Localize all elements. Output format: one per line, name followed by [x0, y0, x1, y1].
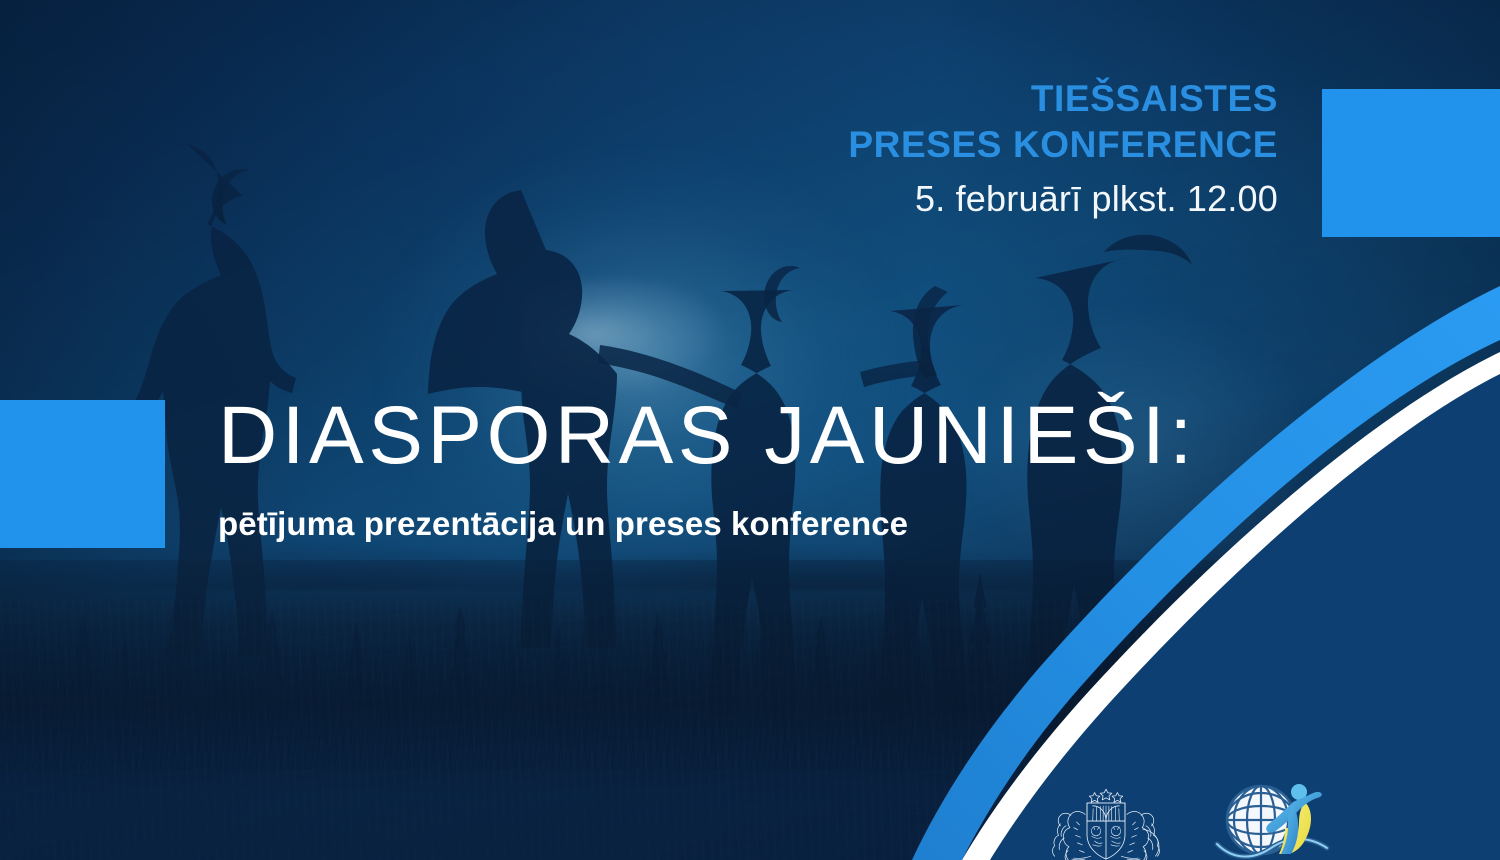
event-poster: TIEŠSAISTES PRESES KONFERENCE 5. februār…: [0, 0, 1500, 860]
header-line-2: PRESES KONFERENCE: [848, 126, 1278, 163]
coat-griffin-field: [1111, 826, 1121, 846]
globe-with-person-logo: [1209, 778, 1341, 860]
poster-title: DIASPORAS JAUNIEŠI:: [218, 395, 1197, 477]
coat-lion-field: [1091, 826, 1102, 846]
header-text-block: TIEŠSAISTES PRESES KONFERENCE 5. februār…: [848, 80, 1278, 217]
coat-stars: [1089, 789, 1122, 802]
latvian-coat-of-arms-logo: [1042, 784, 1170, 860]
header-date: 5. februārī plkst. 12.00: [848, 181, 1278, 217]
coat-supporter-lion: [1053, 812, 1086, 860]
coat-supporter-griffin: [1127, 812, 1160, 860]
header-line-1: TIEŠSAISTES: [848, 80, 1278, 117]
title-block: DIASPORAS JAUNIEŠI: pētījuma prezentācij…: [218, 395, 1197, 543]
poster-subtitle: pētījuma prezentācija un preses konferen…: [218, 505, 1197, 543]
